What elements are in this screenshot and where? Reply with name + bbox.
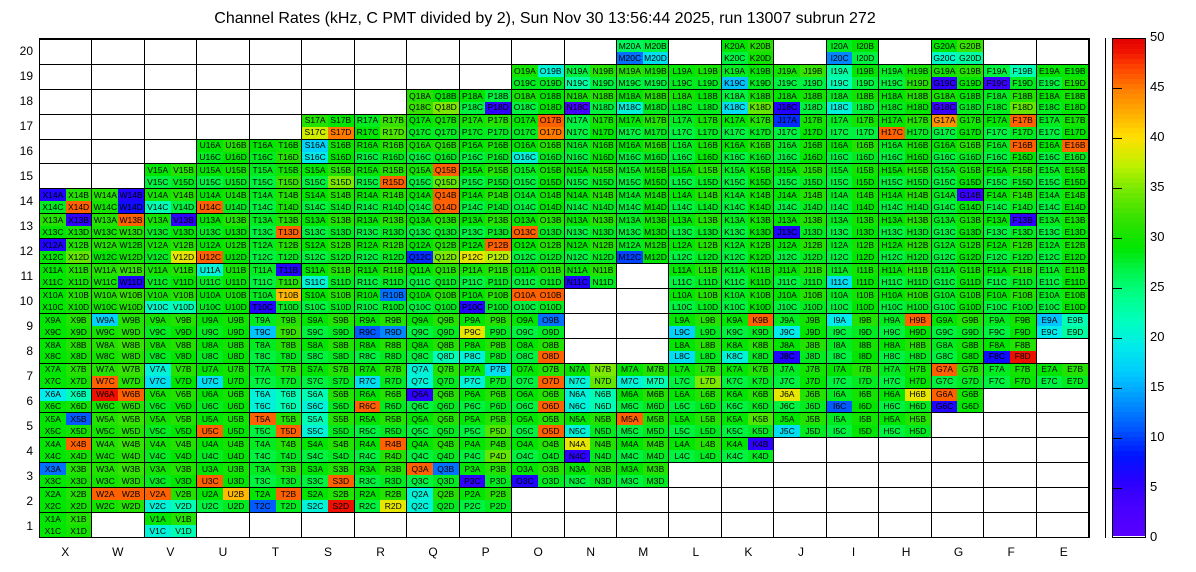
channel-G7D: G7D [957,376,983,388]
channel-P16B: P16B [485,140,511,152]
channel-label: O10D [540,303,562,312]
channel-H13B: H13B [905,214,931,226]
channel-M5D: M5D [643,425,669,437]
channel-label: F17B [1013,116,1033,125]
channel-T5B: T5B [276,413,302,425]
channel-label: G14C [933,203,955,212]
channel-W14A: W14A [92,189,118,201]
channel-label: Q3C [411,477,428,486]
channel-label: X4D [70,452,87,461]
heatmap-cell: I17AI17BI17CI17D [827,114,879,139]
heatmap-cell: N18AN18BN18CN18D [565,89,617,114]
channel-N7C: N7C [565,376,591,388]
channel-F17D: F17D [1010,127,1036,139]
channel-label: M18B [644,92,666,101]
heatmap-cell: P6AP6BP6CP6D [460,388,512,413]
heatmap-cell-empty [40,89,92,114]
channel-E19A: E19A [1037,65,1063,77]
channel-V2A: V2A [145,488,171,500]
channel-H18C: H18C [879,102,905,114]
channel-R5D: R5D [380,425,406,437]
channel-label: L11D [698,278,718,287]
channel-V10A: V10A [145,289,171,301]
channel-label: H14B [907,191,928,200]
channel-N15D: N15D [590,176,616,188]
channel-M13B: M13B [643,214,669,226]
channel-label: E17B [1065,116,1086,125]
channel-label: X5A [45,415,61,424]
channel-S5D: S5D [328,425,354,437]
channel-label: P12A [462,241,483,250]
channel-H7C: H7C [879,376,905,388]
heatmap-cell: N3AN3BN3CN3D [565,462,617,487]
channel-U9A: U9A [197,314,223,326]
heatmap-cell: M18AM18BM18CM18D [617,89,669,114]
channel-label: H7D [909,377,926,386]
channel-label: M3B [647,465,664,474]
channel-S12C: S12C [302,251,328,263]
channel-G17A: G17A [932,115,958,127]
y-axis-tick-17: 17 [5,119,33,133]
channel-label: H6A [884,390,901,399]
channel-label: I12D [856,253,874,262]
heatmap-cell-empty [617,313,669,338]
channel-label: V1B [175,515,191,524]
channel-label: K4C [726,452,743,461]
channel-U7A: U7A [197,364,223,376]
channel-label: K11D [750,278,771,287]
heatmap-cell: K10AK10BK10CK10D [722,288,774,313]
channel-label: G9B [962,316,979,325]
channel-U16A: U16A [197,140,223,152]
channel-O7B: O7B [538,364,564,376]
channel-label: Q9C [411,328,428,337]
channel-label: G19C [933,79,955,88]
channel-label: F16B [1013,141,1033,150]
channel-J12A: J12A [774,239,800,251]
channel-label: W11D [120,278,143,287]
heatmap-cell: I16AI16BI16CI16D [827,139,879,164]
channel-I16C: I16C [827,152,853,164]
channel-label: H15A [881,166,902,175]
channel-F11D: F11D [1010,276,1036,288]
heatmap-cell-empty [40,39,92,64]
channel-N6A: N6A [565,389,591,401]
channel-label: V8C [149,352,166,361]
channel-label: N3A [569,465,586,474]
channel-G11B: G11B [957,264,983,276]
channel-label: U4B [228,440,245,449]
channel-label: U9D [227,328,244,337]
channel-label: W11A [94,266,117,275]
heatmap-cell-empty [669,512,721,537]
channel-label: W9D [122,328,141,337]
channel-J8B: J8B [800,339,826,351]
channel-S17A: S17A [302,115,328,127]
channel-label: P17D [488,128,509,137]
channel-label: G8A [936,341,953,350]
channel-label: F17A [987,116,1007,125]
channel-K11B: K11B [748,264,774,276]
channel-label: Q17A [409,116,431,125]
channel-label: R13A [357,216,378,225]
channel-label: O11D [540,278,562,287]
channel-label: V15A [147,166,168,175]
channel-label: X10A [42,291,63,300]
channel-N14A: N14A [565,189,591,201]
channel-label: L15B [698,166,718,175]
channel-label: U8C [202,352,219,361]
channel-L16D: L16D [695,152,721,164]
channel-T14C: T14C [250,201,276,213]
channel-label: I9B [859,316,872,325]
channel-H13C: H13C [879,226,905,238]
channel-label: I11B [857,266,874,275]
channel-label: H12D [907,253,929,262]
channel-label: S2B [333,490,349,499]
channel-label: R13C [357,228,379,237]
channel-label: I17B [857,116,875,125]
channel-X5A: X5A [40,413,66,425]
channel-W6B: W6B [118,389,144,401]
channel-F19A: F19A [984,65,1010,77]
channel-label: J7A [780,365,795,374]
channel-label: K13A [724,216,745,225]
channel-label: U10D [225,303,247,312]
channel-label: T2D [280,502,296,511]
channel-N19D: N19D [590,77,616,89]
heatmap-cell: R14AR14BR14CR14D [355,188,407,213]
channel-O14B: O14B [538,189,564,201]
channel-label: Q5A [411,415,428,424]
channel-E9C: E9C [1037,326,1063,338]
channel-label: G16D [959,153,981,162]
channel-L18D: L18D [695,102,721,114]
channel-K5D: K5D [748,425,774,437]
channel-O10D: O10D [538,301,564,313]
channel-label: H13D [907,228,929,237]
channel-label: O7C [516,377,533,386]
heatmap-cell: P11AP11BP11CP11D [460,263,512,288]
channel-N19C: N19C [565,77,591,89]
channel-F14C: F14C [984,201,1010,213]
channel-label: Q10A [409,291,431,300]
heatmap-cell: Q9AQ9BQ9CQ9D [407,313,459,338]
channel-L12D: L12D [695,251,721,263]
channel-label: V10A [147,291,168,300]
heatmap-cell: I6AI6BI6CI6D [827,388,879,413]
channel-label: O16B [540,141,562,150]
channel-L10B: L10B [695,289,721,301]
channel-label: N7A [569,365,586,374]
channel-label: K4B [752,440,768,449]
channel-label: L4B [700,440,715,449]
heatmap-cell: X14AX14BX14CX14D [40,188,92,213]
channel-label: G11A [934,266,955,275]
channel-T4A: T4A [250,438,276,450]
channel-K14B: K14B [748,189,774,201]
channel-label: H15B [907,166,928,175]
channel-label: X5D [70,427,87,436]
channel-J14B: J14B [800,189,826,201]
heatmap-cell-empty [1037,437,1089,462]
x-axis-tick-P: P [459,545,512,559]
channel-label: H18D [907,103,929,112]
channel-label: K20B [750,42,771,51]
channel-J16B: J16B [800,140,826,152]
heatmap-cell: L11AL11BL11CL11D [669,263,721,288]
channel-O5B: O5B [538,413,564,425]
channel-X6C: X6C [40,401,66,413]
channel-N16B: N16B [590,140,616,152]
channel-label: P3C [464,477,481,486]
channel-K20C: K20C [722,52,748,64]
channel-label: T8D [280,352,296,361]
channel-W5A: W5A [92,413,118,425]
channel-label: M17C [618,128,641,137]
channel-E19C: E19C [1037,77,1063,89]
channel-label: L14D [698,203,718,212]
channel-T6B: T6B [276,389,302,401]
channel-F12D: F12D [1010,251,1036,263]
channel-H14B: H14B [905,189,931,201]
heatmap-cell: G12AG12BG12CG12D [932,238,984,263]
channel-P3C: P3C [460,475,486,487]
channel-label: P18A [462,92,483,101]
heatmap-cell-empty [197,64,249,89]
channel-label: L8D [700,352,716,361]
heatmap-cell: X13AX13BX13CX13D [40,213,92,238]
channel-K11C: K11C [722,276,748,288]
channel-label: I15A [831,166,849,175]
heatmap-cell-empty [302,64,354,89]
channel-O3C: O3C [512,475,538,487]
channel-E14C: E14C [1037,201,1063,213]
heatmap-cell: Q10AQ10BQ10CQ10D [407,288,459,313]
channel-R2D: R2D [380,500,406,512]
heatmap-cell-empty [197,89,249,114]
heatmap-cell: R10AR10BR10CR10D [355,288,407,313]
channel-label: U6D [227,402,244,411]
channel-label: R11A [357,266,378,275]
channel-M6A: M6A [617,389,643,401]
channel-F8D: F8D [1010,351,1036,363]
channel-label: E14B [1065,191,1086,200]
channel-I17D: I17D [852,127,878,139]
channel-N3C: N3C [565,475,591,487]
channel-Q16B: Q16B [433,140,459,152]
heatmap-cell: T14AT14BT14CT14D [250,188,302,213]
channel-label: I18D [856,103,874,112]
channel-E12D: E12D [1062,251,1088,263]
heatmap-cell: T15AT15BT15CT15D [250,163,302,188]
channel-label: R11C [357,278,378,287]
channel-O12D: O12D [538,251,564,263]
channel-label: Q18B [435,92,457,101]
channel-label: L13A [672,216,692,225]
channel-label: S17C [304,128,325,137]
channel-label: U13C [199,228,221,237]
channel-label: K12B [750,241,771,250]
channel-label: R8B [385,341,402,350]
channel-G6D: G6D [957,401,983,413]
channel-label: Q11C [409,278,431,287]
channel-Q8A: Q8A [407,339,433,351]
channel-label: R16D [382,153,404,162]
channel-H14C: H14C [879,201,905,213]
channel-label: U15B [225,166,246,175]
channel-I14D: I14D [852,201,878,213]
channel-label: N18A [567,92,588,101]
channel-I5B: I5B [852,413,878,425]
channel-X10C: X10C [40,301,66,313]
channel-Q15A: Q15A [407,164,433,176]
heatmap-cell: Q13AQ13BQ13CQ13D [407,213,459,238]
channel-X14D: X14D [66,201,92,213]
channel-W5B: W5B [118,413,144,425]
x-axis-tick-X: X [39,545,92,559]
channel-label: O4D [542,452,559,461]
channel-G8C: G8C [932,351,958,363]
channel-J5A: J5A [774,413,800,425]
x-axis-tick-I: I [827,545,880,559]
channel-label: R3A [359,465,376,474]
channel-T9A: T9A [250,314,276,326]
channel-O13A: O13A [512,214,538,226]
channel-label: J11A [778,266,797,275]
channel-label: J17D [803,128,823,137]
channel-L8D: L8D [695,351,721,363]
channel-label: U12D [225,253,247,262]
channel-label: J6C [780,402,795,411]
channel-label: F10A [987,291,1007,300]
channel-H15C: H15C [879,176,905,188]
channel-label: W13D [119,228,143,237]
channel-L7A: L7A [669,364,695,376]
channel-label: Q2D [437,502,454,511]
channel-label: F19D [1012,79,1033,88]
channel-P13C: P13C [460,226,486,238]
channel-label: F17C [987,128,1008,137]
channel-label: I12A [831,241,849,250]
channel-label: V3A [150,465,166,474]
heatmap-cell: E13AE13BE13CE13D [1037,213,1089,238]
heatmap-cell: M19AM19BM19CM19D [617,64,669,89]
channel-label: W12C [93,253,117,262]
channel-label: I19B [857,67,875,76]
channel-O10C: O10C [512,301,538,313]
heatmap-cell-empty [355,512,407,537]
channel-N13B: N13B [590,214,616,226]
heatmap-cell: X4AX4BX4CX4D [40,437,92,462]
channel-label: I16C [831,153,849,162]
heatmap-cell: H16AH16BH16CH16D [879,139,931,164]
channel-label: V7A [150,365,166,374]
channel-O10A: O10A [512,289,538,301]
channel-E16C: E16C [1037,152,1063,164]
channel-label: J6A [780,390,795,399]
channel-label: T2B [281,490,297,499]
channel-label: I11A [831,266,848,275]
channel-V3B: V3B [171,463,197,475]
channel-label: J15B [803,166,822,175]
channel-W3B: W3B [118,463,144,475]
channel-O19D: O19D [538,77,564,89]
channel-label: F13A [987,216,1007,225]
channel-M12B: M12B [643,239,669,251]
heatmap-cell: L15AL15BL15CL15D [669,163,721,188]
channel-G18D: G18D [957,102,983,114]
channel-J9B: J9B [800,314,826,326]
channel-N6C: N6C [565,401,591,413]
channel-label: F19B [1013,67,1033,76]
channel-label: I17D [856,128,874,137]
channel-Q2D: Q2D [433,500,459,512]
channel-O4B: O4B [538,438,564,450]
colorbar-tick [1112,488,1122,489]
channel-label: O5B [542,415,559,424]
channel-label: H9B [910,316,927,325]
channel-Q10A: Q10A [407,289,433,301]
channel-label: R2D [385,502,402,511]
heatmap-cell: J13AJ13BJ13CJ13D [774,213,826,238]
channel-H5B: H5B [905,413,931,425]
channel-label: J18A [777,92,796,101]
heatmap-cell: T5AT5BT5CT5D [250,412,302,437]
heatmap-cell-empty [669,462,721,487]
channel-label: I18C [831,103,849,112]
channel-L7B: L7B [695,364,721,376]
channel-L10C: L10C [669,301,695,313]
channel-E9B: E9B [1062,314,1088,326]
channel-I12B: I12B [852,239,878,251]
channel-Q4C: Q4C [407,450,433,462]
channel-G16C: G16C [932,152,958,164]
channel-label: R6D [385,402,402,411]
channel-E15D: E15D [1062,176,1088,188]
heatmap-cell: L14AL14BL14CL14D [669,188,721,213]
channel-label: P4B [490,440,506,449]
channel-V6A: V6A [145,389,171,401]
channel-F8C: F8C [984,351,1010,363]
heatmap-cell: S3AS3BS3CS3D [302,462,354,487]
channel-label: K13C [724,228,745,237]
channel-label: I8A [833,341,846,350]
channel-M20C: M20C [617,52,643,64]
channel-P10C: P10C [460,301,486,313]
channel-label: E16C [1039,153,1060,162]
heatmap-cell: L18AL18BL18CL18D [669,89,721,114]
channel-label: U12B [225,241,246,250]
channel-O12C: O12C [512,251,538,263]
channel-label: T16A [252,141,272,150]
channel-label: R7B [385,365,402,374]
channel-label: X14A [42,191,63,200]
y-axis-tick-15: 15 [5,169,33,183]
channel-N3D: N3D [590,475,616,487]
channel-label: K9B [752,316,768,325]
heatmap-cell: W11AW11BW11CW11D [92,263,144,288]
channel-label: P15A [462,166,483,175]
channel-label: H10B [907,291,928,300]
channel-label: M6B [647,390,664,399]
heatmap-cell: W3AW3BW3CW3D [92,462,144,487]
channel-label: J15A [777,166,796,175]
channel-E13D: E13D [1062,226,1088,238]
channel-N15C: N15C [565,176,591,188]
channel-label: K10B [750,291,771,300]
channel-label: R17C [357,128,379,137]
